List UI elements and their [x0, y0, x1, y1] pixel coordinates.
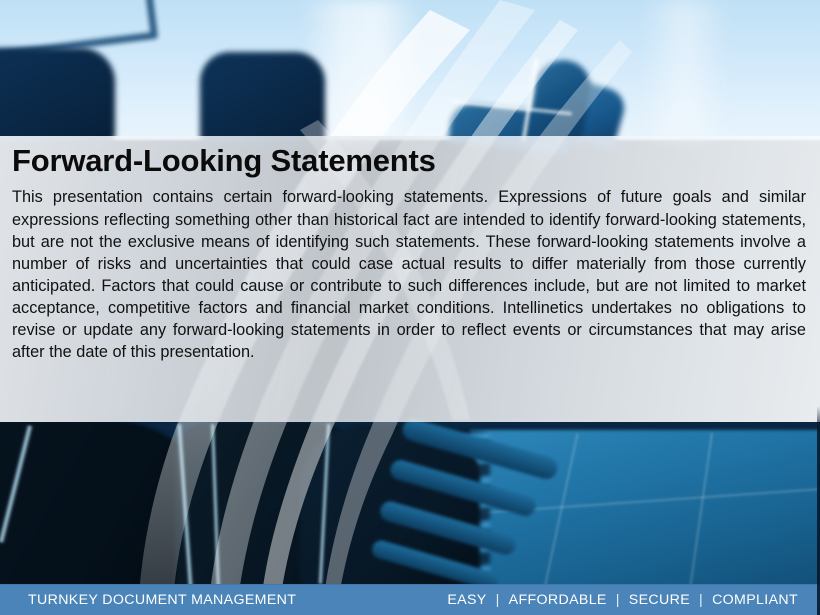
- chair-back-2: [200, 52, 325, 144]
- presentation-slide: Forward-Looking Statements This presenta…: [0, 0, 820, 615]
- footer-benefits: EASY | AFFORDABLE | SECURE | COMPLIANT: [447, 592, 798, 608]
- wall-panel-right: [640, 0, 730, 140]
- disclaimer-body-text: This presentation contains certain forwa…: [12, 186, 806, 363]
- footer-separator-3: |: [699, 592, 703, 608]
- footer-separator-1: |: [496, 592, 500, 608]
- footer-benefit-affordable: AFFORDABLE: [509, 592, 607, 608]
- footer-separator-2: |: [616, 592, 620, 608]
- text-overlay-band: Forward-Looking Statements This presenta…: [0, 136, 820, 422]
- footer-benefit-easy: EASY: [447, 592, 486, 608]
- footer-tagline: TURNKEY DOCUMENT MANAGEMENT: [28, 592, 296, 608]
- chair-front-1: [0, 420, 200, 595]
- footer-bar: TURNKEY DOCUMENT MANAGEMENT EASY | AFFOR…: [0, 584, 820, 615]
- footer-benefit-secure: SECURE: [629, 592, 690, 608]
- page-title: Forward-Looking Statements: [12, 144, 810, 177]
- chair-back-1: [0, 48, 115, 143]
- footer-benefit-compliant: COMPLIANT: [712, 592, 798, 608]
